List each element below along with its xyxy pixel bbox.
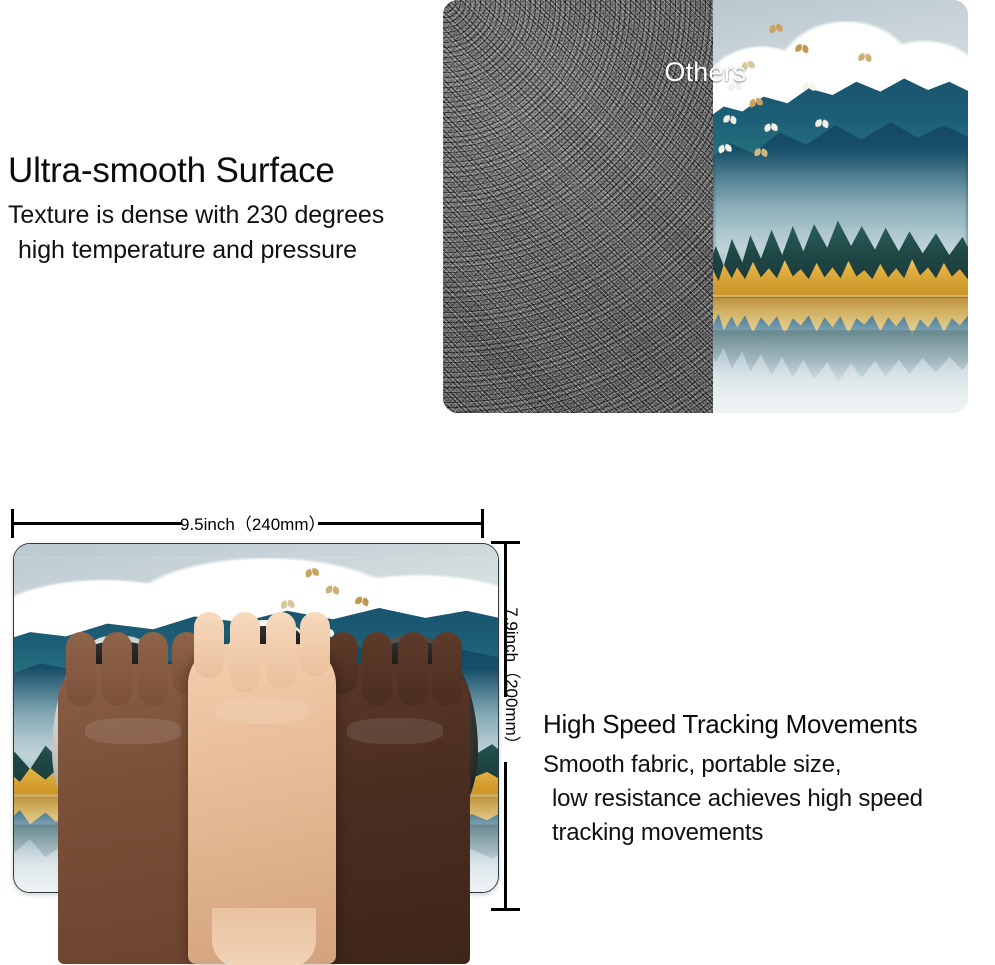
feature-headline: High Speed Tracking Movements xyxy=(543,710,995,739)
others-label: Others xyxy=(443,57,968,88)
bird-icon xyxy=(718,143,733,152)
finger xyxy=(66,632,96,706)
finger xyxy=(398,632,428,706)
bird-icon xyxy=(325,586,340,595)
finger xyxy=(432,632,462,706)
top-subtext: Texture is dense with 230 degrees high t… xyxy=(8,198,438,267)
lake-haze xyxy=(713,289,968,413)
product-feature-image: Ultra-smooth Surface Texture is dense wi… xyxy=(0,0,995,965)
wrist xyxy=(212,908,316,965)
width-dimension-label: 9.5inch（240mm） xyxy=(180,510,320,535)
finger xyxy=(138,632,168,706)
knuckle-shading xyxy=(85,718,181,744)
finger xyxy=(194,612,224,678)
knuckle-shading xyxy=(215,698,310,724)
bird-icon xyxy=(764,123,778,131)
finger xyxy=(300,612,330,676)
hand-right xyxy=(320,664,470,964)
surface-comparison-panel: Others xyxy=(443,0,968,413)
finger xyxy=(230,612,260,692)
top-subtext-line-2: high temperature and pressure xyxy=(8,233,438,268)
finger xyxy=(266,612,296,688)
top-headline: Ultra-smooth Surface xyxy=(8,152,438,189)
width-line-left xyxy=(12,522,182,525)
hand-left xyxy=(58,664,208,964)
ultra-smooth-surface-copy: Ultra-smooth Surface Texture is dense wi… xyxy=(8,152,438,267)
bird-icon xyxy=(305,568,320,578)
width-line-right xyxy=(318,522,483,525)
product-photo xyxy=(0,536,512,965)
feature-body: Smooth fabric, portable size, low resist… xyxy=(543,748,995,850)
bird-icon xyxy=(280,600,295,608)
bird-icon xyxy=(754,148,769,156)
finger xyxy=(362,632,392,706)
high-speed-tracking-copy: High Speed Tracking Movements Smooth fab… xyxy=(543,710,995,850)
feature-body-line-3: tracking movements xyxy=(543,816,995,850)
bird-icon xyxy=(815,119,830,128)
feature-body-line-1: Smooth fabric, portable size, xyxy=(543,748,995,782)
knuckle-shading xyxy=(347,718,443,744)
top-subtext-line-1: Texture is dense with 230 degrees xyxy=(8,198,438,233)
bird-icon xyxy=(769,24,784,33)
feature-body-line-2: low resistance achieves high speed xyxy=(543,782,995,816)
finger xyxy=(102,632,132,706)
